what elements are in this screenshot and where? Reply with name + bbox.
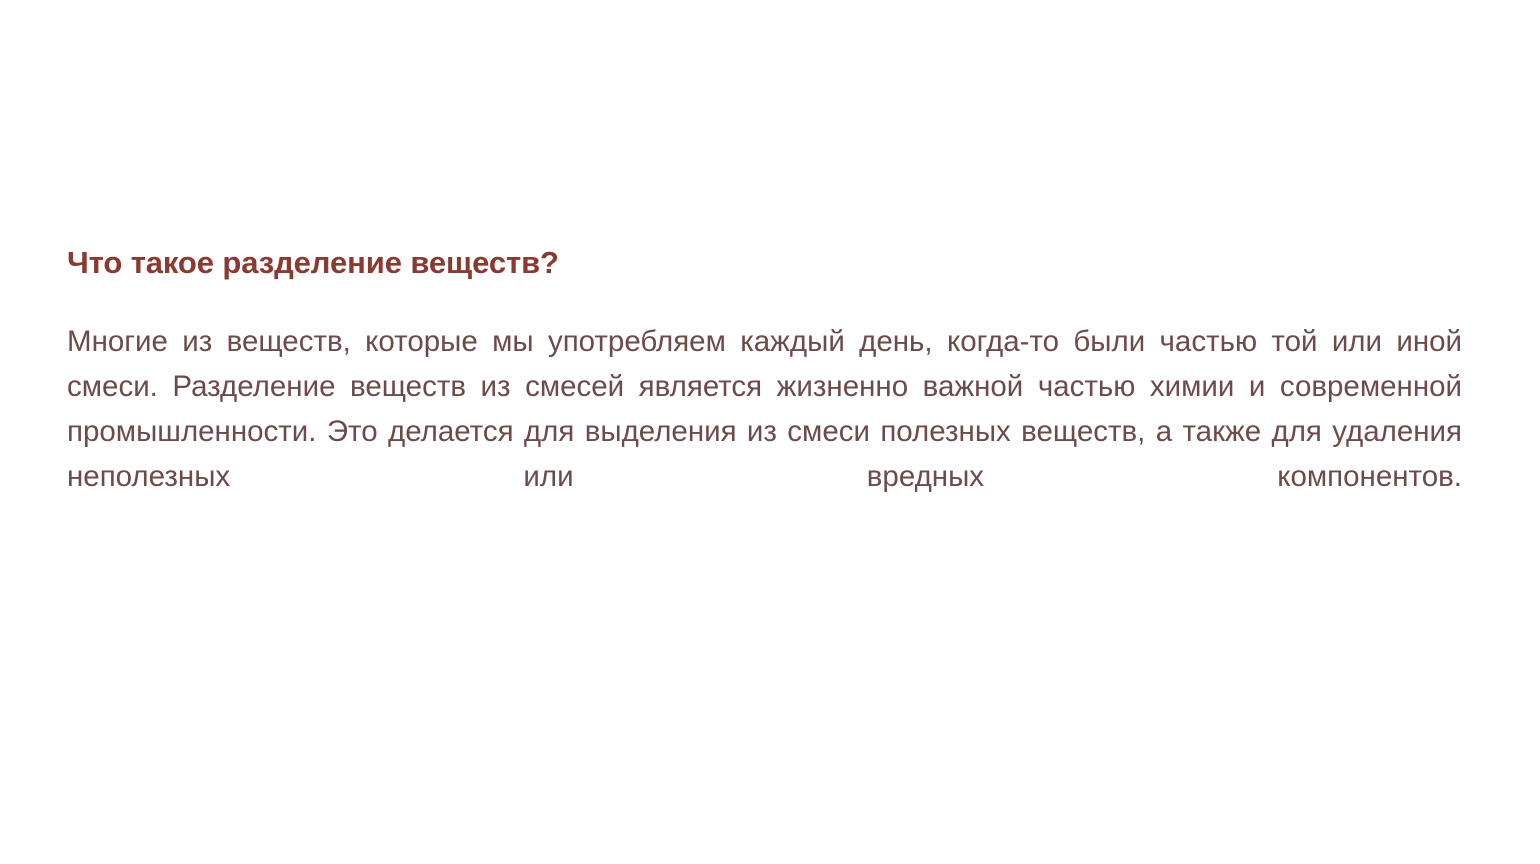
slide-content-block: Что такое разделение веществ? Многие из … (67, 243, 1462, 544)
slide-canvas: Что такое разделение веществ? Многие из … (0, 0, 1540, 864)
page-title: Что такое разделение веществ? (67, 243, 1462, 283)
body-paragraph: Многие из веществ, которые мы употребляе… (67, 319, 1462, 544)
